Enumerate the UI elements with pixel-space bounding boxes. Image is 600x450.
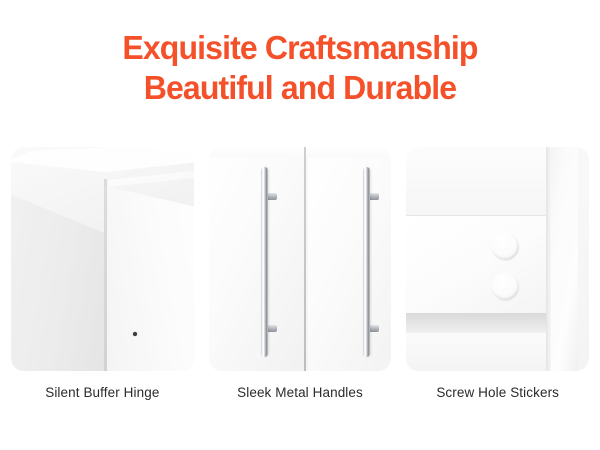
feature-image-screw-hole-stickers: [406, 147, 589, 371]
cabinet-corner-edge: [104, 179, 107, 371]
page-title: Exquisite Craftsmanship Beautiful and Du…: [9, 28, 591, 108]
metal-bar-handle-left: [255, 167, 277, 357]
feature-caption-row: Silent Buffer Hinge Sleek Metal Handles …: [11, 383, 589, 403]
feature-image-silent-buffer-hinge: [11, 147, 194, 371]
handle-bar: [261, 167, 268, 357]
cabinet-door-top-edge: [209, 147, 392, 157]
drill-hole: [133, 332, 137, 336]
cabinet-right-panel: [105, 169, 194, 371]
caption-screw-hole-stickers: Screw Hole Stickers: [406, 383, 589, 403]
feature-panel-row: [11, 147, 589, 371]
handle-bar: [363, 167, 370, 357]
shelf-front-board: [406, 215, 550, 315]
headline-line-2: Beautiful and Durable: [9, 68, 591, 108]
cabinet-door-seam: [304, 147, 306, 371]
caption-sleek-metal-handles: Sleek Metal Handles: [209, 383, 392, 403]
shelf-upper-compartment: [406, 147, 554, 215]
cabinet-door-right: [308, 147, 392, 371]
cabinet-top-lip: [107, 169, 194, 187]
cabinet-side-edge: [546, 147, 551, 371]
feature-image-sleek-metal-handles: [209, 147, 392, 371]
cabinet-left-panel: [11, 171, 107, 371]
product-feature-banner: Exquisite Craftsmanship Beautiful and Du…: [0, 0, 600, 450]
headline-line-1: Exquisite Craftsmanship: [122, 29, 477, 66]
shelf-shadow-gap: [406, 313, 546, 335]
metal-bar-handle-right: [357, 167, 379, 357]
cabinet-top-surface: [11, 147, 194, 197]
shelf-lower-panel: [406, 333, 546, 371]
caption-silent-buffer-hinge: Silent Buffer Hinge: [11, 383, 194, 403]
